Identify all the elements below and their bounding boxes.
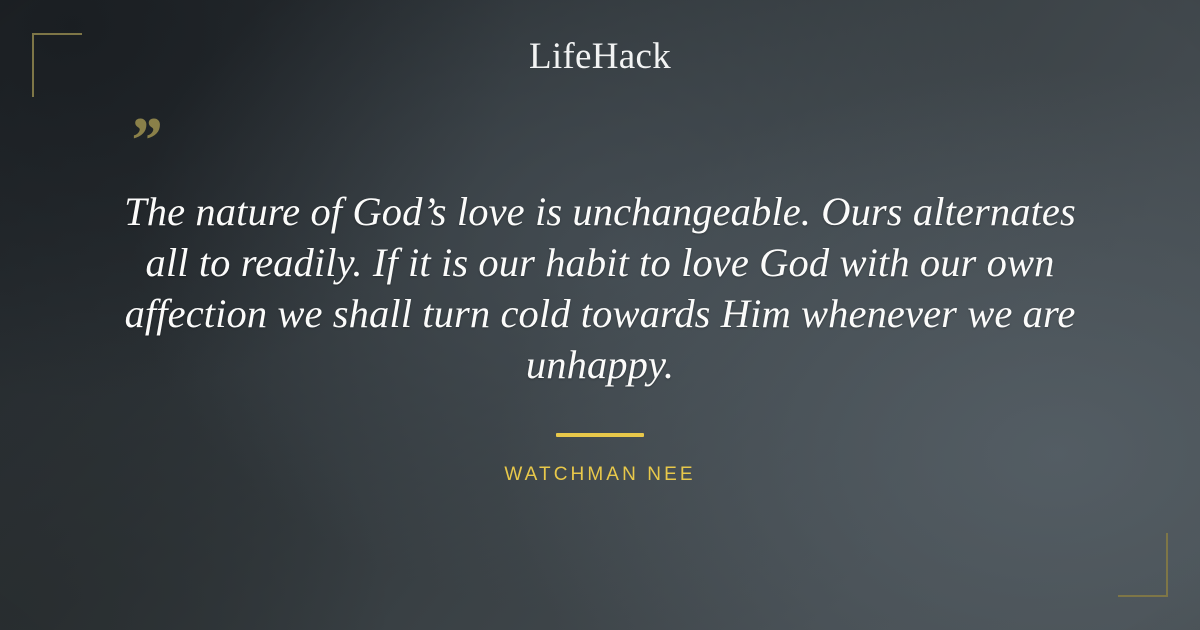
- quote-card: LifeHack ” The nature of God’s love is u…: [0, 0, 1200, 630]
- corner-bracket-bottom-right-icon: [1118, 533, 1168, 597]
- quote-block: The nature of God’s love is unchangeable…: [100, 186, 1100, 390]
- divider: [0, 433, 1200, 437]
- divider-line: [556, 433, 644, 437]
- quote-author: WATCHMAN NEE: [0, 464, 1200, 486]
- brand-logo[interactable]: LifeHack: [0, 38, 1200, 75]
- quote-text: The nature of God’s love is unchangeable…: [100, 186, 1100, 390]
- quotation-mark-icon: ”: [128, 108, 161, 174]
